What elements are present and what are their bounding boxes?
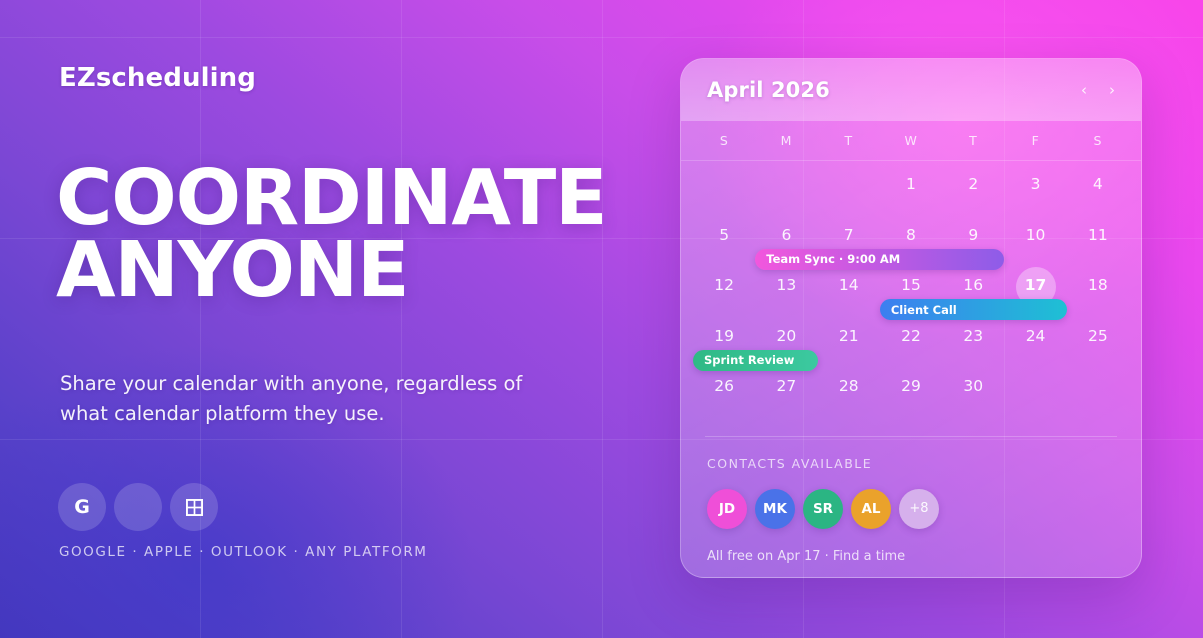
calendar-day-number: 4 bbox=[1093, 175, 1103, 193]
calendar-day-number: 18 bbox=[1088, 276, 1108, 294]
calendar-day[interactable]: 29 bbox=[880, 371, 942, 422]
month-title: April 2026 bbox=[707, 78, 830, 102]
calendar-day-number: 16 bbox=[963, 276, 983, 294]
calendar-header: April 2026 ‹ › bbox=[681, 59, 1141, 121]
calendar-day[interactable]: 25 bbox=[1067, 321, 1129, 372]
calendar-event[interactable]: Client Call bbox=[880, 299, 1067, 320]
calendar-week-row: 2627282930 bbox=[693, 371, 1129, 422]
calendar-day[interactable]: 4 bbox=[1067, 169, 1129, 220]
calendar-day[interactable]: 13 bbox=[755, 270, 817, 321]
calendar-day[interactable]: 12 bbox=[693, 270, 755, 321]
calendar-event[interactable]: Sprint Review bbox=[693, 350, 818, 371]
calendar-day[interactable]: 3 bbox=[1004, 169, 1066, 220]
calendar-day[interactable]: 22 bbox=[880, 321, 942, 372]
apple-icon[interactable] bbox=[114, 483, 162, 531]
platform-icon-row: G bbox=[58, 483, 218, 531]
contact-avatar-initials: AL bbox=[861, 501, 880, 517]
headline-line-2: ANYONE bbox=[56, 235, 606, 307]
calendar-day[interactable]: 18 bbox=[1067, 270, 1129, 321]
calendar-day-number: 2 bbox=[968, 175, 978, 193]
calendar-day-number: 12 bbox=[714, 276, 734, 294]
contact-avatar[interactable]: MK bbox=[755, 489, 795, 529]
prev-month-icon[interactable]: ‹ bbox=[1081, 83, 1087, 98]
brand-logo: EZscheduling bbox=[59, 63, 256, 93]
contact-avatar[interactable]: SR bbox=[803, 489, 843, 529]
calendar-day-number: 13 bbox=[777, 276, 797, 294]
calendar-day-number: 15 bbox=[901, 276, 921, 294]
calendar-day-number: 11 bbox=[1088, 226, 1108, 244]
calendar-event-label: Sprint Review bbox=[704, 353, 794, 367]
calendar-day[interactable]: 30 bbox=[942, 371, 1004, 422]
calendar-day[interactable]: 2 bbox=[942, 169, 1004, 220]
calendar-event-label: Client Call bbox=[891, 303, 957, 317]
calendar-day-number: 6 bbox=[781, 226, 791, 244]
page-background: EZscheduling COORDINATE ANYONE Share you… bbox=[0, 0, 1203, 638]
calendar-day-number: 5 bbox=[719, 226, 729, 244]
calendar-day[interactable]: 24 bbox=[1004, 321, 1066, 372]
calendar-day[interactable]: 11 bbox=[1067, 220, 1129, 271]
calendar-day-number: 21 bbox=[839, 327, 859, 345]
platform-list: GOOGLE · APPLE · OUTLOOK · ANY PLATFORM bbox=[59, 544, 427, 560]
calendar-day-number: 29 bbox=[901, 377, 921, 395]
calendar-day[interactable]: 1 bbox=[880, 169, 942, 220]
hero-subheadline: Share your calendar with anyone, regardl… bbox=[60, 369, 530, 428]
calendar-day-number: 10 bbox=[1026, 226, 1046, 244]
google-icon[interactable]: G bbox=[58, 483, 106, 531]
calendar-day-number: 9 bbox=[968, 226, 978, 244]
hero-column: EZscheduling COORDINATE ANYONE Share you… bbox=[59, 0, 659, 638]
calendar-day-number: 1 bbox=[906, 175, 916, 193]
calendar-day-number: 17 bbox=[1025, 276, 1047, 294]
calendar-day-number: 25 bbox=[1088, 327, 1108, 345]
contact-avatar-overflow[interactable]: +8 bbox=[899, 489, 939, 529]
contact-avatar-initials: +8 bbox=[909, 501, 928, 516]
calendar-day-number: 30 bbox=[963, 377, 983, 395]
calendar-day[interactable]: 27 bbox=[755, 371, 817, 422]
next-month-icon[interactable]: › bbox=[1109, 83, 1115, 98]
calendar-day-number: 28 bbox=[839, 377, 859, 395]
contact-avatar-row: JDMKSRAL+8 bbox=[707, 489, 1141, 529]
calendar-day-number: 8 bbox=[906, 226, 916, 244]
weekday-5: F bbox=[1004, 133, 1066, 148]
calendar-day-number: 3 bbox=[1031, 175, 1041, 193]
calendar-day-number: 22 bbox=[901, 327, 921, 345]
calendar-week-row: 12131415161718Client Call bbox=[693, 270, 1129, 321]
calendar-day-number: 14 bbox=[839, 276, 859, 294]
calendar-grid: 1234567891011Team Sync · 9:00 AM12131415… bbox=[681, 161, 1141, 422]
calendar-day-number: 7 bbox=[844, 226, 854, 244]
page-title: COORDINATE ANYONE bbox=[56, 163, 606, 306]
google-icon-glyph: G bbox=[74, 498, 90, 517]
calendar-day[interactable]: 21 bbox=[818, 321, 880, 372]
calendar-day-number: 20 bbox=[777, 327, 797, 345]
calendar-day-number: 23 bbox=[963, 327, 983, 345]
calendar-day[interactable]: 5 bbox=[693, 220, 755, 271]
calendar-card: April 2026 ‹ › SMTWTFS 1234567891011Team… bbox=[680, 58, 1142, 578]
calendar-week-row: 567891011Team Sync · 9:00 AM bbox=[693, 220, 1129, 271]
calendar-day-number: 19 bbox=[714, 327, 734, 345]
contact-avatar-initials: MK bbox=[763, 501, 787, 517]
weekday-3: W bbox=[880, 133, 942, 148]
month-nav: ‹ › bbox=[1081, 83, 1115, 98]
calendar-day[interactable]: 28 bbox=[818, 371, 880, 422]
calendar-day[interactable]: 23 bbox=[942, 321, 1004, 372]
contact-avatar-initials: JD bbox=[719, 501, 735, 517]
calendar-day-number: 24 bbox=[1026, 327, 1046, 345]
calendar-day[interactable]: 26 bbox=[693, 371, 755, 422]
calendar-week-row: 1234 bbox=[693, 169, 1129, 220]
calendar-event-label: Team Sync · 9:00 AM bbox=[766, 252, 900, 266]
weekday-header-row: SMTWTFS bbox=[681, 121, 1141, 161]
contact-avatar[interactable]: JD bbox=[707, 489, 747, 529]
calendar-day[interactable]: 10 bbox=[1004, 220, 1066, 271]
weekday-2: T bbox=[818, 133, 880, 148]
calendar-event[interactable]: Team Sync · 9:00 AM bbox=[755, 249, 1004, 270]
card-divider bbox=[705, 436, 1117, 437]
weekday-4: T bbox=[942, 133, 1004, 148]
calendar-day-number: 27 bbox=[777, 377, 797, 395]
calendar-day[interactable]: 14 bbox=[818, 270, 880, 321]
calendar-day-number: 26 bbox=[714, 377, 734, 395]
weekday-0: S bbox=[693, 133, 755, 148]
calendar-week-row: 19202122232425Sprint Review bbox=[693, 321, 1129, 372]
weekday-6: S bbox=[1067, 133, 1129, 148]
weekday-1: M bbox=[755, 133, 817, 148]
contact-avatar-initials: SR bbox=[813, 501, 833, 517]
outlook-icon[interactable] bbox=[170, 483, 218, 531]
contact-avatar[interactable]: AL bbox=[851, 489, 891, 529]
availability-footnote: All free on Apr 17 · Find a time bbox=[707, 549, 1141, 564]
contacts-label: CONTACTS AVAILABLE bbox=[707, 456, 1141, 471]
window-grid-icon bbox=[186, 499, 203, 516]
